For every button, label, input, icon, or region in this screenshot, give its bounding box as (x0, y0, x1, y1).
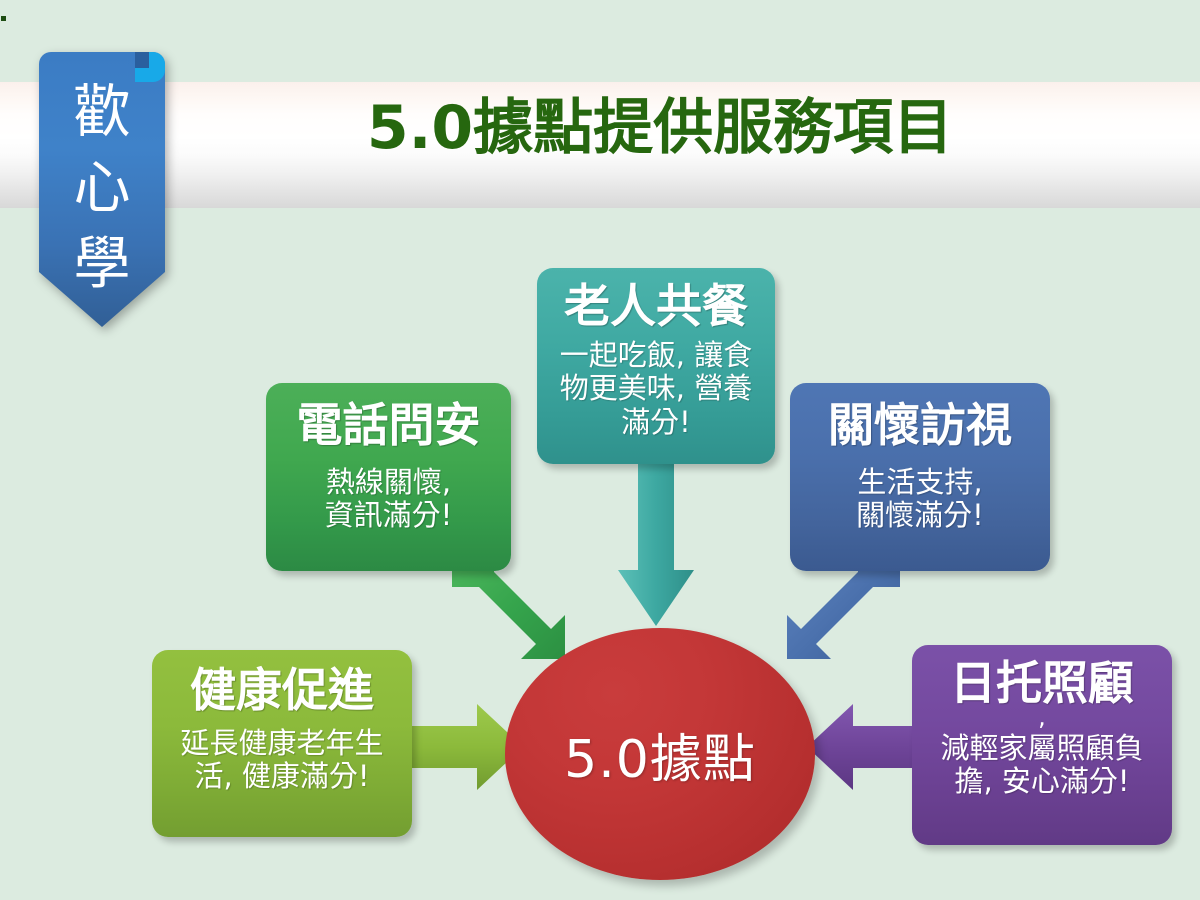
desc-line: 生活支持, (800, 466, 1040, 500)
service-card-visit-desc: 生活支持, 關懷滿分! (800, 452, 1040, 533)
desc-line: 延長健康老年生 (162, 727, 402, 761)
service-card-health-desc: 延長健康老年生 活, 健康滿分! (162, 717, 402, 794)
arrow-daycare-to-hub (805, 700, 925, 794)
ribbon-label: 歡 心 學 (39, 74, 165, 302)
desc-line: 擔, 安心滿分! (922, 765, 1162, 799)
center-hub-label: 5.0據點 (564, 717, 756, 792)
service-card-meal-desc: 一起吃飯, 讓食 物更美味, 營養 滿分! (547, 333, 765, 440)
service-card-phone-desc: 熱線關懷, 資訊滿分! (276, 452, 501, 533)
slide-canvas: 歡 心 學 5.0據點提供服務項目 (0, 0, 1200, 900)
desc-line: 資訊滿分! (276, 499, 501, 533)
service-card-daycare-title: 日托照顧 (922, 651, 1162, 708)
desc-line: 活, 健康滿分! (162, 760, 402, 794)
service-card-health-title: 健康促進 (162, 656, 402, 715)
desc-line: 關懷滿分! (800, 499, 1040, 533)
desc-line: 物更美味, 營養 (547, 372, 765, 406)
service-card-daycare-desc: 減輕家屬照顧負 擔, 安心滿分! (922, 730, 1162, 799)
service-card-visit[interactable]: 關懷訪視 生活支持, 關懷滿分! (790, 383, 1050, 571)
ribbon-char-2: 心 (39, 150, 165, 226)
ribbon-char-1: 歡 (39, 74, 165, 150)
service-card-phone-title: 電話問安 (276, 389, 501, 450)
service-card-daycare-comma: , (922, 708, 1162, 728)
corner-dot (1, 16, 6, 21)
service-card-phone[interactable]: 電話問安 熱線關懷, 資訊滿分! (266, 383, 511, 571)
arrow-meal-to-hub (616, 458, 696, 630)
ribbon-char-3: 學 (39, 226, 165, 302)
page-title: 5.0據點提供服務項目 (230, 97, 1090, 160)
desc-line: 一起吃飯, 讓食 (547, 339, 765, 373)
desc-line: 熱線關懷, (276, 466, 501, 500)
desc-line: 滿分! (547, 406, 765, 440)
center-hub: 5.0據點 (505, 628, 815, 880)
service-card-meal-title: 老人共餐 (547, 274, 765, 331)
service-card-meal[interactable]: 老人共餐 一起吃飯, 讓食 物更美味, 營養 滿分! (537, 268, 775, 464)
service-card-visit-title: 關懷訪視 (800, 389, 1040, 450)
service-card-health[interactable]: 健康促進 延長健康老年生 活, 健康滿分! (152, 650, 412, 837)
service-card-daycare[interactable]: 日托照顧 , 減輕家屬照顧負 擔, 安心滿分! (912, 645, 1172, 845)
brand-ribbon: 歡 心 學 (39, 52, 165, 327)
desc-line: 減輕家屬照顧負 (922, 732, 1162, 766)
